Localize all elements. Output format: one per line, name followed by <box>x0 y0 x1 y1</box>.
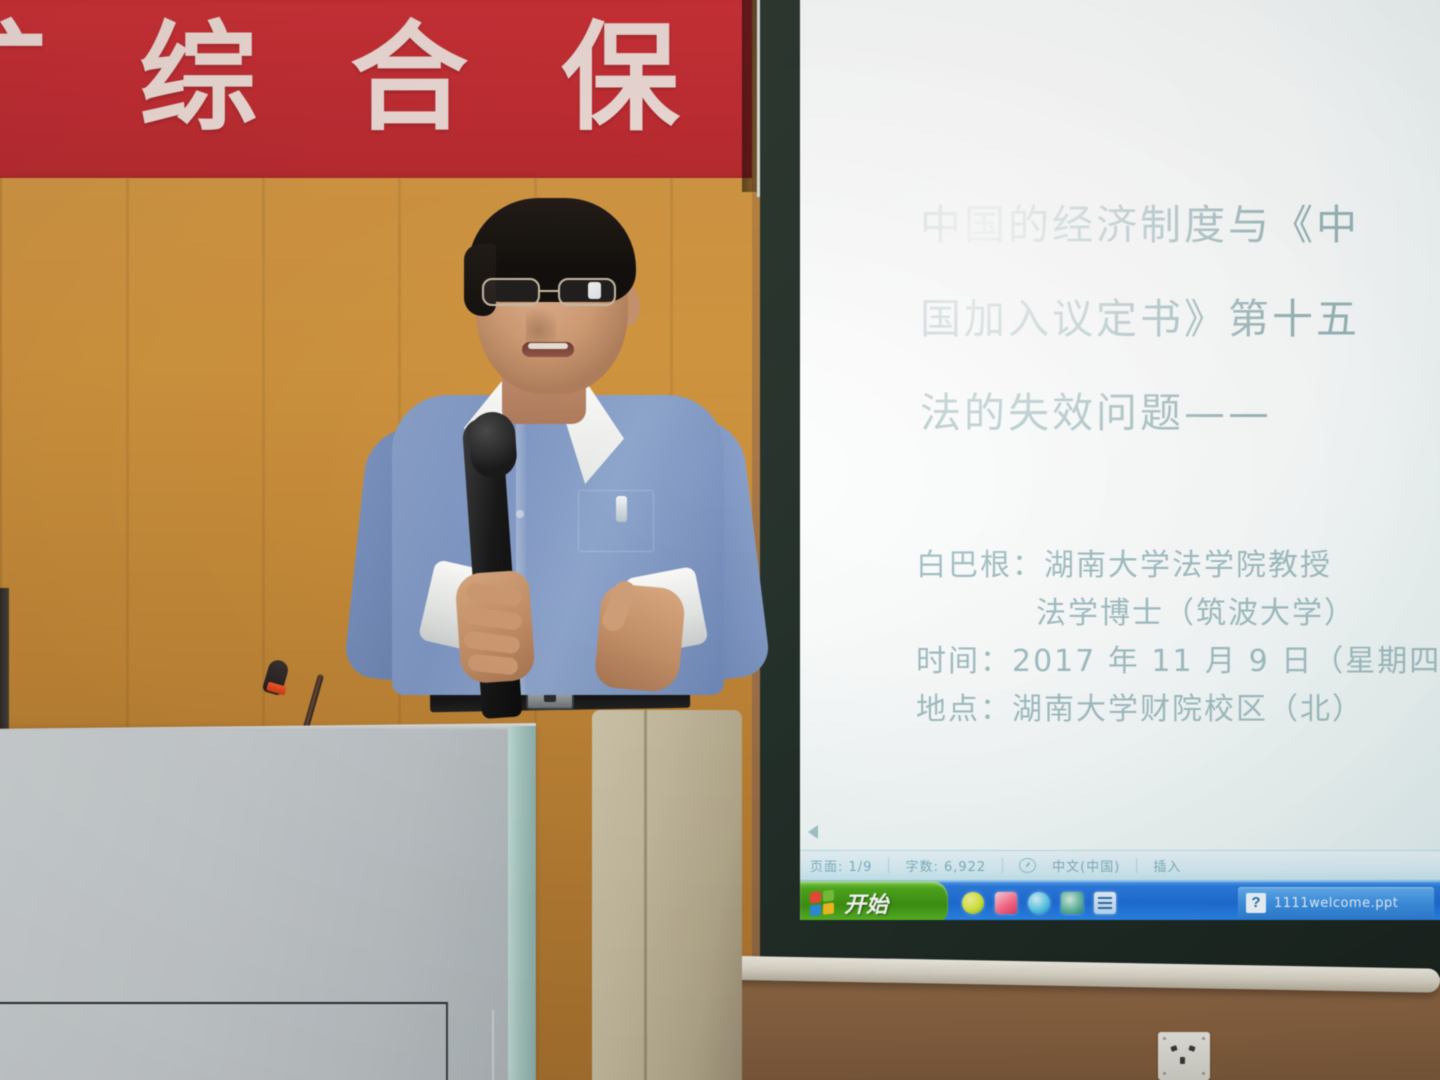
socket-screw <box>1202 1037 1205 1040</box>
slide-info-degree: 法学博士（筑波大学） <box>916 590 1440 638</box>
status-divider <box>888 858 889 873</box>
slide-info-block: 白巴根：湖南大学法学院教授 法学博士（筑波大学） 时间：2017 年 11 月 … <box>916 542 1440 734</box>
handheld-microphone-head <box>468 410 518 479</box>
status-page-number[interactable]: 页面: 1/9 <box>810 856 872 875</box>
lens-glare <box>588 282 601 299</box>
show-desktop-icon[interactable] <box>962 892 984 914</box>
status-insert-mode[interactable]: 插入 <box>1153 856 1181 875</box>
slide-info-presenter: 白巴根：湖南大学法学院教授 <box>916 542 1440 590</box>
podium-seam-line <box>492 1010 494 1080</box>
socket-pin <box>1170 1045 1177 1052</box>
trousers <box>592 710 742 1080</box>
slide-title-line-3: 法的失效问题—— <box>920 366 1440 460</box>
quick-launch-bar <box>948 892 1130 914</box>
status-language[interactable]: 中文(中国) <box>1052 856 1120 875</box>
powerpoint-icon: ? <box>1246 893 1266 913</box>
socket-screw <box>1202 1072 1205 1075</box>
lecture-photo-scene: 矿 综 合 保 税 中国的经济制度与《中 国加入议定书》第十五 法的失效问题——… <box>0 0 1440 1080</box>
teeth <box>528 343 568 349</box>
start-button[interactable]: 开始 <box>800 881 948 920</box>
outlook-express-icon[interactable] <box>1061 892 1083 914</box>
wall-power-socket <box>1158 1032 1210 1080</box>
gesturing-hand <box>594 583 687 694</box>
slide-title: 中国的经济制度与《中 国加入议定书》第十五 法的失效问题—— <box>920 178 1440 460</box>
socket-pin <box>1180 1057 1185 1064</box>
podium-front-panel <box>0 1002 448 1080</box>
scroll-left-arrow-icon[interactable] <box>808 825 818 839</box>
taskbar-item-label: 1111welcome.ppt <box>1274 896 1398 911</box>
nose <box>526 302 556 342</box>
glasses-bridge <box>540 290 558 292</box>
slide-info-place: 地点：湖南大学财院校区（北） <box>916 686 1440 734</box>
word-status-bar: 页面: 1/9 字数: 6,922 中文(中国) 插入 <box>800 850 1440 880</box>
media-player-icon[interactable] <box>995 892 1017 914</box>
taskbar-item[interactable]: ? 1111welcome.ppt <box>1238 887 1434 919</box>
socket-screw <box>1163 1037 1166 1040</box>
socket-pin <box>1188 1045 1195 1052</box>
projection-screen-surface: 中国的经济制度与《中 国加入议定书》第十五 法的失效问题—— 白巴根：湖南大学法… <box>800 0 1440 920</box>
status-word-count[interactable]: 字数: 6,922 <box>905 856 986 875</box>
podium-side-edge <box>508 726 536 1080</box>
lens-right <box>558 278 616 306</box>
status-divider <box>1002 858 1003 873</box>
banner-text: 矿 综 合 保 税 <box>0 0 752 153</box>
red-event-banner: 矿 综 合 保 税 <box>0 0 752 178</box>
spellcheck-icon[interactable] <box>1019 858 1036 873</box>
slide-info-time: 时间：2017 年 11 月 9 日（星期四 <box>916 638 1440 686</box>
pocket-pen <box>616 496 627 522</box>
eyeglasses <box>480 278 636 308</box>
lens-left <box>482 278 540 306</box>
shirt-button <box>516 510 524 518</box>
status-divider <box>1136 858 1137 873</box>
dark-wall-edge <box>0 588 9 734</box>
slide-title-line-1: 中国的经济制度与《中 <box>920 178 1440 272</box>
socket-screw <box>1163 1072 1166 1075</box>
internet-explorer-icon[interactable] <box>1028 892 1050 914</box>
windows-flag-icon <box>810 890 834 917</box>
start-button-label: 开始 <box>844 887 888 919</box>
slide-title-line-2: 国加入议定书》第十五 <box>920 272 1440 366</box>
list-view-icon[interactable] <box>1094 892 1116 914</box>
windows-taskbar: 开始 ? 1111welcome.ppt <box>800 880 1440 920</box>
